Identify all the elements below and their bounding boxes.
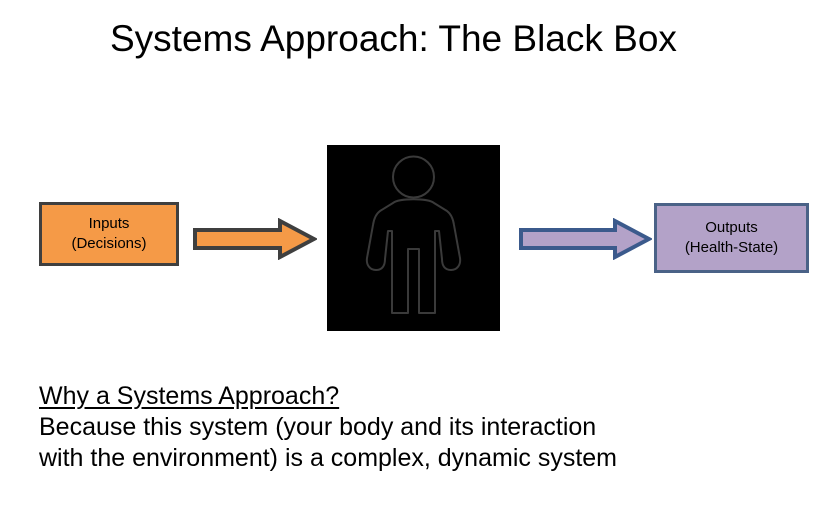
input-box-label-line1: Inputs — [89, 214, 130, 234]
body-heading: Why a Systems Approach? — [39, 381, 809, 412]
slide-canvas: Systems Approach: The Black Box Inputs (… — [0, 0, 830, 506]
input-box-label-line2: (Decisions) — [71, 234, 146, 254]
arrow-right-icon — [192, 218, 317, 260]
output-box-label-line2: (Health-State) — [685, 238, 778, 258]
body-text-block: Why a Systems Approach? Because this sys… — [39, 381, 809, 474]
black-box — [327, 145, 500, 331]
arrow-right-icon — [518, 218, 652, 260]
body-line-2: with the environment) is a complex, dyna… — [39, 443, 809, 474]
input-arrow — [192, 218, 317, 260]
input-box: Inputs (Decisions) — [39, 202, 179, 266]
page-title: Systems Approach: The Black Box — [110, 14, 750, 64]
body-line-1: Because this system (your body and its i… — [39, 412, 809, 443]
output-box: Outputs (Health-State) — [654, 203, 809, 273]
output-box-label-line1: Outputs — [705, 218, 758, 238]
human-body-silhouette-icon — [327, 145, 500, 331]
output-arrow — [518, 218, 652, 260]
